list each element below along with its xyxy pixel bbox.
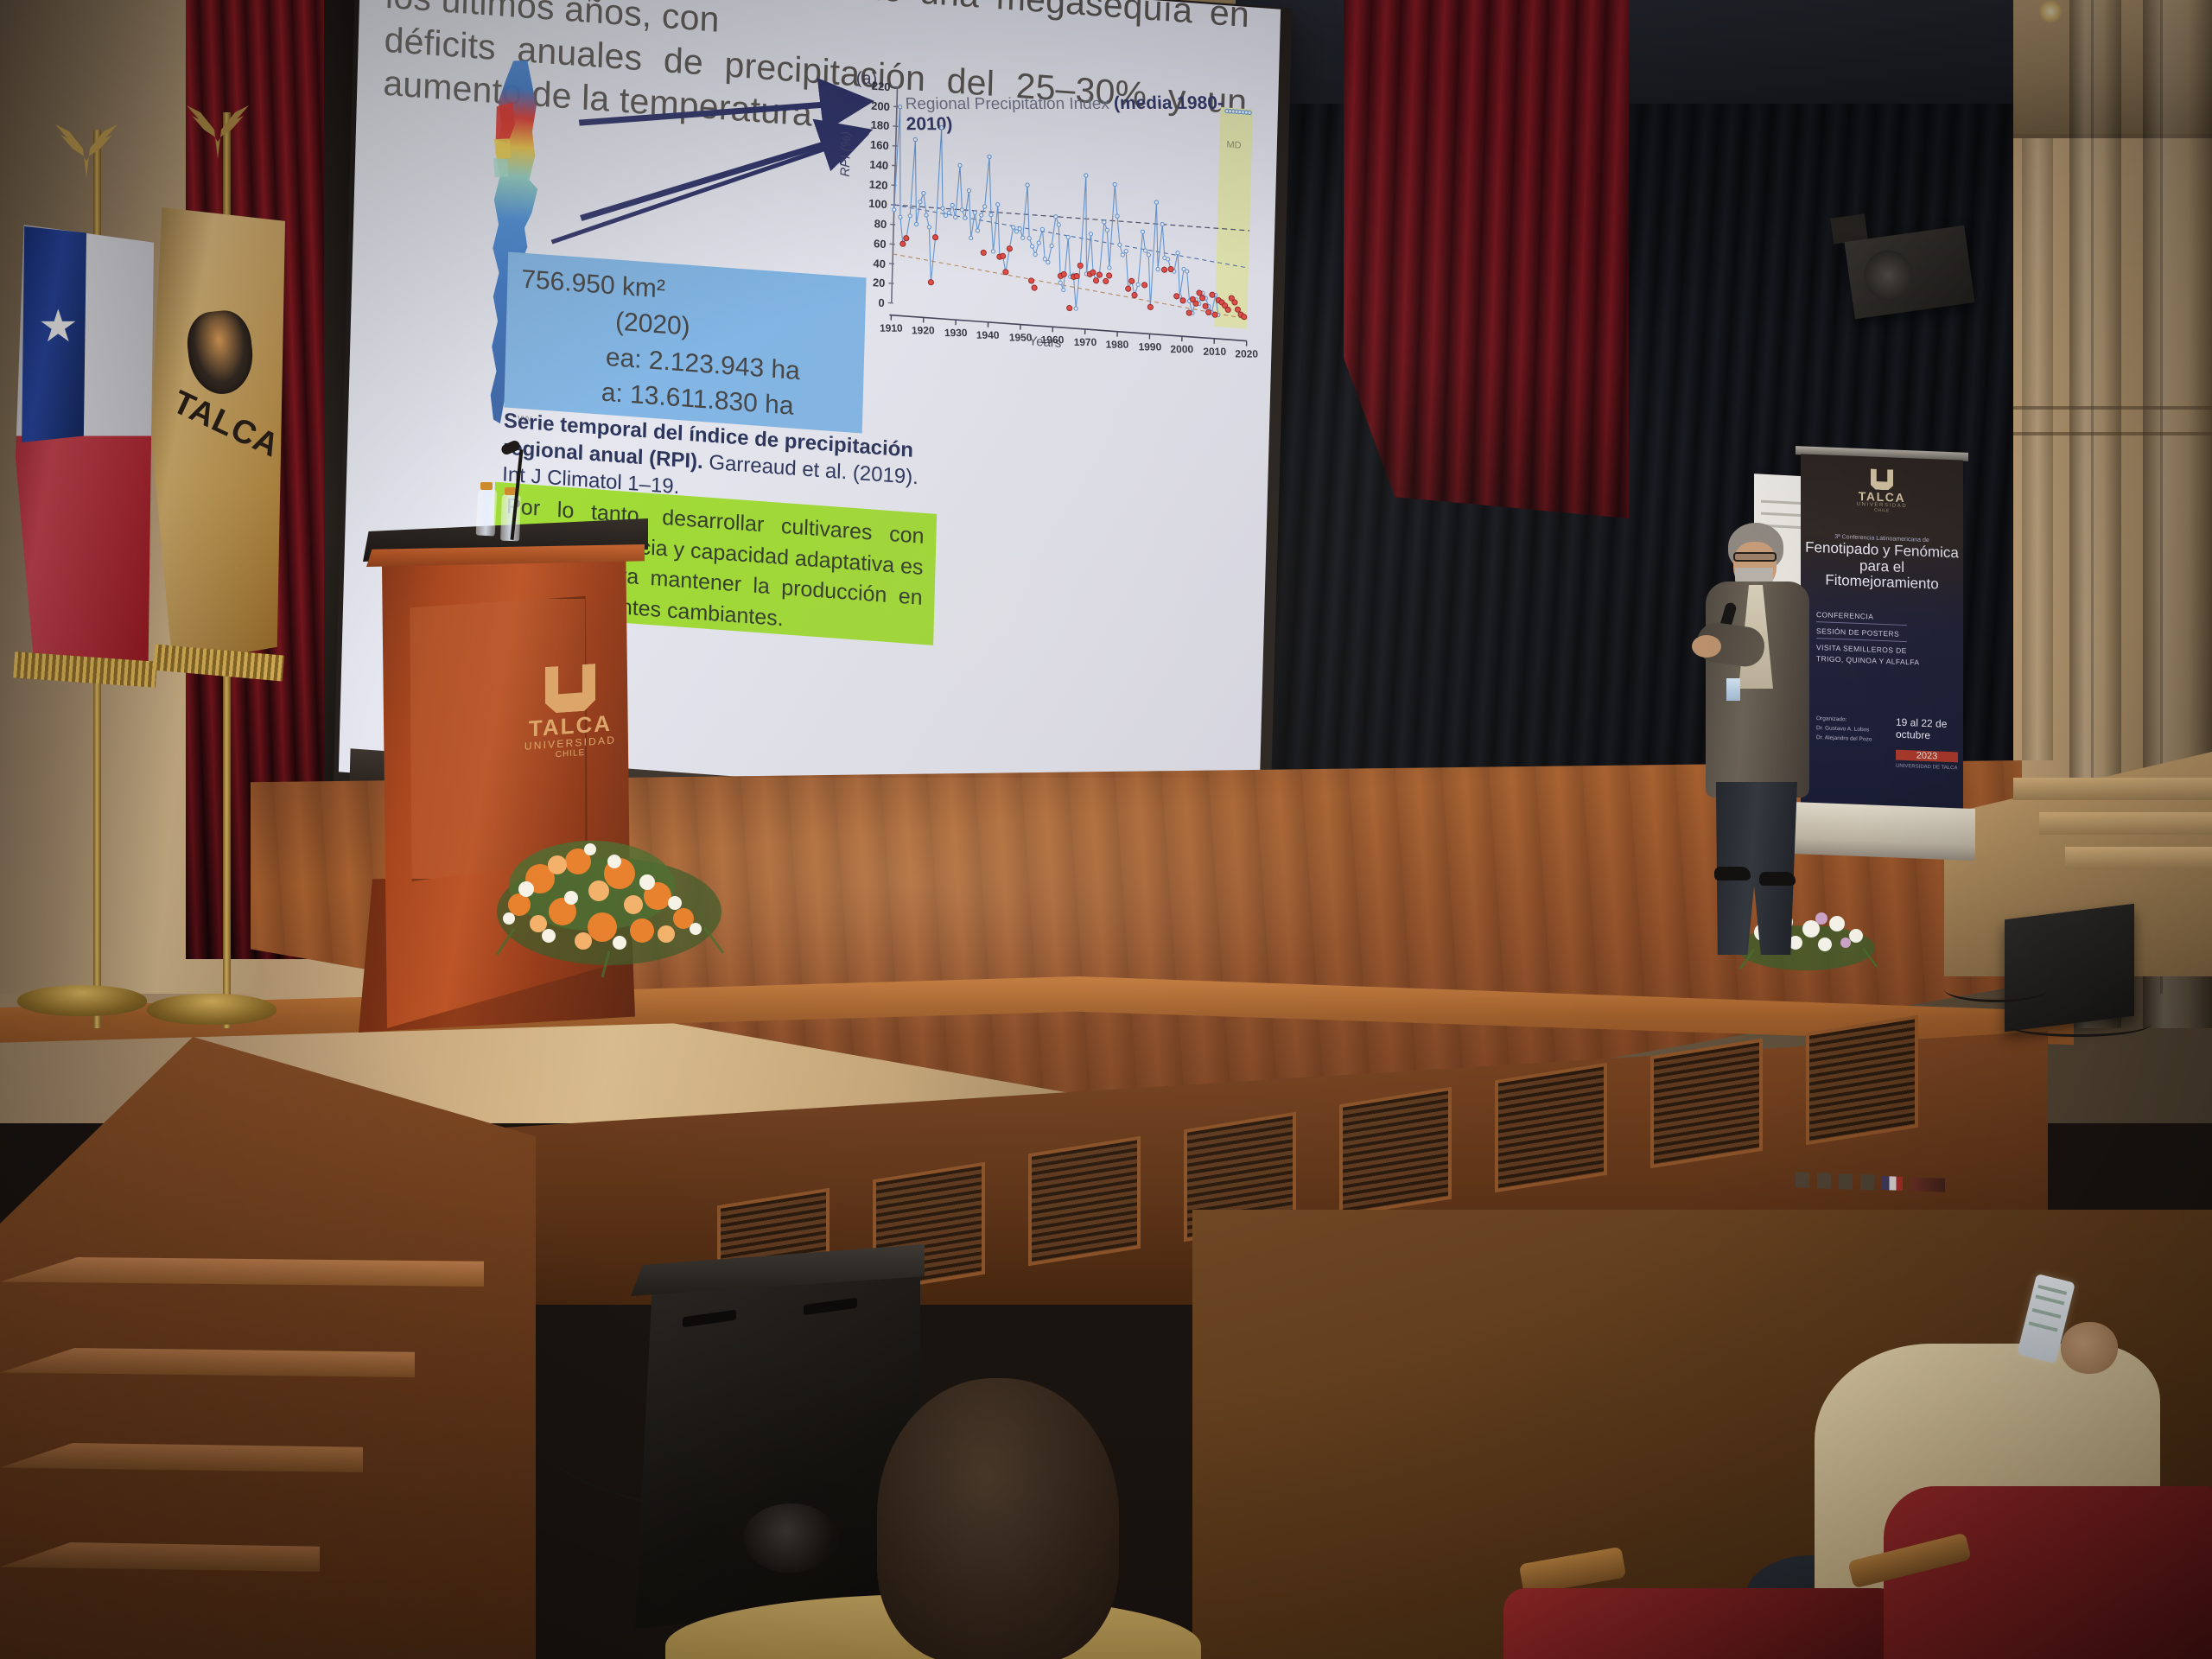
stage-curtain-red-right <box>1344 0 1629 518</box>
sponsor-logo <box>1796 1172 1809 1188</box>
banner-divider <box>1816 621 1907 626</box>
stair-step <box>0 1257 484 1287</box>
banner-headline-line-2: para el Fitomejoramiento <box>1801 556 1963 593</box>
chart-y-tick-label: 40 <box>856 255 886 270</box>
auditorium-seat <box>1884 1486 2212 1659</box>
banner-date-line-2: octubre <box>1896 728 1947 742</box>
presenter-lanyard-badge <box>1726 678 1740 701</box>
chart-y-tick-label: 60 <box>856 236 886 251</box>
flagpole-eagle-finial-icon <box>52 112 121 181</box>
banner-place: UNIVERSIDAD DE TALCA <box>1896 764 1957 772</box>
chart-y-tick-label: 100 <box>858 196 887 211</box>
audience-member-head <box>877 1378 1119 1659</box>
flag-stand-base <box>147 994 276 1025</box>
chart-y-tick-label: 140 <box>859 157 888 172</box>
floor-cable <box>1944 976 2048 1002</box>
ceiling-light <box>2039 0 2062 22</box>
subwoofer-cone-icon <box>743 1503 838 1573</box>
sponsor-logo-wide <box>1910 1177 1945 1192</box>
chart-x-tick-label: 1950 <box>1008 332 1032 344</box>
sponsor-flag-logo <box>1882 1176 1903 1191</box>
slide-blue-info-box: 756.950 km² (2020) ea: 2.123.943 ha a: 1… <box>504 251 866 433</box>
banner-date: 19 al 22 de octubre <box>1896 717 1947 743</box>
audience-hand <box>2061 1322 2118 1374</box>
chart-x-tick-label: 2010 <box>1203 346 1226 358</box>
ramp-step <box>2065 847 2212 869</box>
chart-x-tick-label: 1930 <box>944 327 968 339</box>
ramp-step <box>2013 778 2212 800</box>
banner-activities-list: CONFERENCIA SESIÓN DE POSTERS VISITA SEM… <box>1816 610 1963 669</box>
chart-y-tick-label: 120 <box>858 176 887 191</box>
banner-organizers: Organizado: Dr. Gustavo A. Lobos Dr. Ale… <box>1816 714 1872 745</box>
floral-arrangement-podium <box>488 782 739 981</box>
chart-x-tick-label: 1970 <box>1073 336 1096 348</box>
banner-organizer-2: Dr. Alejandro del Pozo <box>1816 733 1872 745</box>
banner-talca-u-icon <box>1871 469 1893 491</box>
talca-u-icon <box>545 664 595 714</box>
podium-talca-logo: TALCA UNIVERSIDAD CHILE <box>514 661 626 772</box>
banner-artwork: TALCA UNIVERSIDAD CHILE 3ª Conferencia L… <box>1801 454 1963 810</box>
chart-y-tick-label: 0 <box>855 295 885 309</box>
chart-x-tick-label: 1990 <box>1138 340 1161 353</box>
chart-x-tick-label: 2020 <box>1235 348 1258 360</box>
rpi-chart: (a) Regional Precipitation Index (media … <box>856 74 1268 367</box>
chart-x-tick-label: 1920 <box>912 324 935 336</box>
svg-text:MD: MD <box>1226 140 1241 151</box>
water-bottle <box>476 488 498 536</box>
chart-y-tick-label: 80 <box>857 216 887 231</box>
chart-y-tick-label: 20 <box>855 275 885 289</box>
apron-vent <box>1806 1015 1918 1146</box>
flag-chile-star-icon: ★ <box>38 304 79 349</box>
chart-x-tick-label: 2000 <box>1170 343 1193 355</box>
chart-y-tick-label: 220 <box>861 79 890 93</box>
presenter-shoe <box>1714 867 1751 880</box>
presenter-hand <box>1692 635 1721 658</box>
chart-y-tick-label: 180 <box>860 118 889 132</box>
apron-vent <box>1028 1136 1141 1267</box>
sponsor-logo <box>1817 1173 1831 1189</box>
chart-plot-area: MD <box>892 87 1253 329</box>
auditorium-seat <box>1503 1588 1901 1659</box>
apron-vent <box>1339 1087 1452 1217</box>
apron-vent <box>1495 1063 1607 1193</box>
presenter <box>1685 523 1823 886</box>
chart-x-tick-label: 1960 <box>1041 334 1065 346</box>
presenter-shoe <box>1759 872 1796 886</box>
sponsor-logo <box>1839 1173 1853 1190</box>
banner-divider <box>1816 638 1907 642</box>
glasses-icon <box>1733 552 1777 562</box>
chart-y-tick-label: 200 <box>861 98 890 112</box>
chart-x-tick-label: 1910 <box>880 322 903 334</box>
banner-year: 2023 <box>1896 750 1958 763</box>
chart-x-tick-label: 1980 <box>1105 339 1128 351</box>
chart-x-tick-label: 1940 <box>976 329 1000 341</box>
floor-cable <box>2005 1011 2152 1037</box>
ramp-step <box>2039 812 2212 835</box>
apron-vent <box>1650 1039 1763 1169</box>
chart-y-tick-label: 160 <box>860 137 889 152</box>
chart-y-axis-label: RPI (%) <box>838 130 854 177</box>
wall-speaker-icon <box>1844 226 1974 320</box>
bottle-cap <box>480 482 493 490</box>
auditorium-scene: Chile central ha experimentado una megas… <box>0 0 2212 1659</box>
stair-step <box>0 1348 415 1377</box>
sponsor-logo <box>1860 1174 1874 1191</box>
flagpole-eagle-finial-icon <box>183 93 252 162</box>
flag-stand-base <box>17 985 147 1016</box>
